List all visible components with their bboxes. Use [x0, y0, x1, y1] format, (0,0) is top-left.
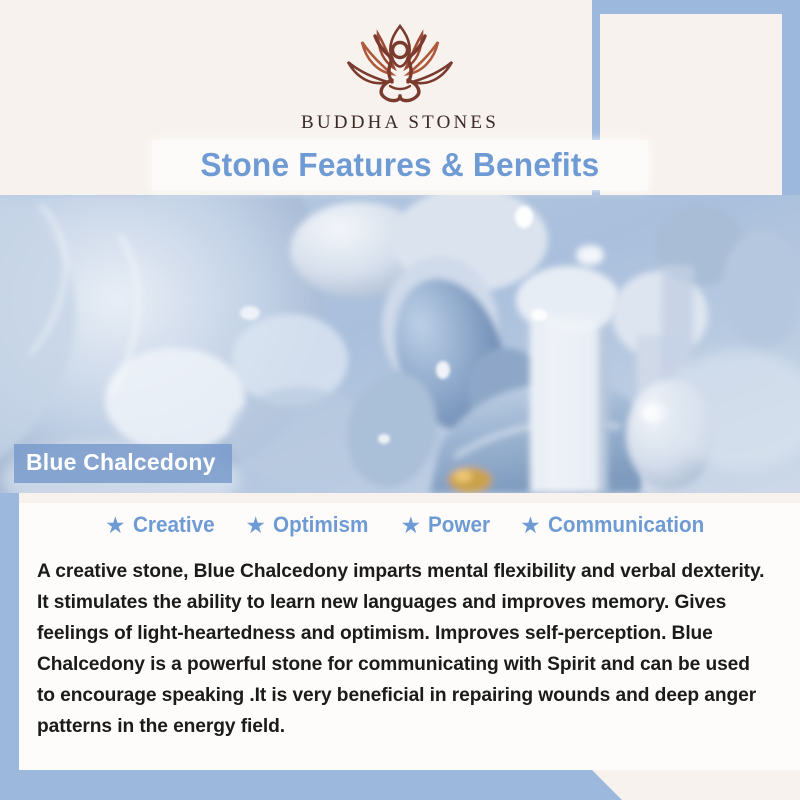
keyword-item-creative: ★ Creative: [105, 512, 219, 538]
stone-name-caption: Blue Chalcedony: [14, 444, 232, 483]
brand-logo: BUDDHA STONES: [0, 18, 800, 134]
keyword-label: Optimism: [273, 512, 368, 538]
keyword-row: ★ Creative ★ Optimism ★ Power ★ Communic…: [19, 512, 800, 538]
keyword-label: Communication: [548, 512, 704, 538]
keyword-label: Power: [428, 512, 490, 538]
lotus-meditation-icon: [326, 18, 474, 110]
benefits-panel: ★ Creative ★ Optimism ★ Power ★ Communic…: [19, 493, 800, 770]
star-icon: ★: [105, 514, 126, 537]
benefits-description: A creative stone, Blue Chalcedony impart…: [37, 556, 772, 742]
page-title-plate: Stone Features & Benefits: [152, 140, 648, 190]
keyword-item-power: ★ Power: [401, 512, 495, 538]
star-icon: ★: [520, 514, 541, 537]
keyword-item-optimism: ★ Optimism: [245, 512, 374, 538]
poster-header: BUDDHA STONES Stone Features & Benefits: [0, 0, 800, 196]
stone-name: Blue Chalcedony: [26, 449, 216, 475]
keyword-label: Creative: [133, 512, 215, 538]
product-info-poster: BUDDHA STONES Stone Features & Benefits: [0, 0, 800, 800]
star-icon: ★: [245, 514, 266, 537]
panel-top-tint: [19, 493, 800, 503]
frame-left-accent: [0, 493, 19, 770]
brand-name: BUDDHA STONES: [0, 112, 800, 134]
keyword-item-communication: ★ Communication: [520, 512, 714, 538]
page-title: Stone Features & Benefits: [200, 146, 599, 184]
star-icon: ★: [401, 514, 422, 537]
hero-photo: Blue Chalcedony: [0, 195, 800, 493]
